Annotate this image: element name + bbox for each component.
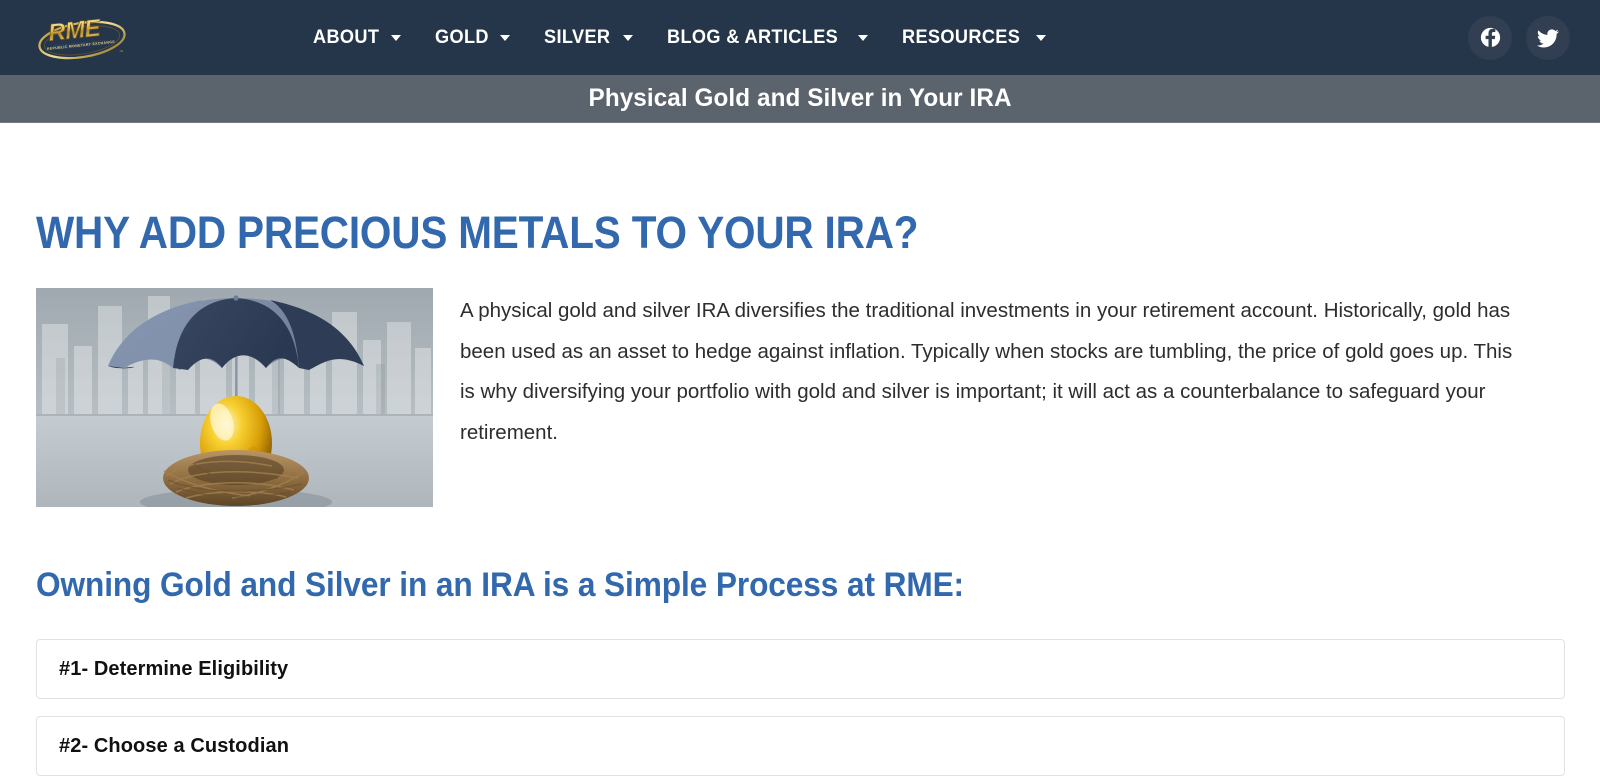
nav-item-gold[interactable]: GOLD: [418, 0, 527, 75]
site-header: RME REPUBLIC MONETARY EXCHANGE ™ ABOUT G…: [0, 0, 1600, 75]
facebook-icon: [1480, 27, 1501, 48]
nav-item-blog-articles-label: BLOG & ARTICLES: [667, 26, 838, 49]
page-title-bar: Physical Gold and Silver in Your IRA: [0, 75, 1600, 123]
facebook-link[interactable]: [1468, 16, 1512, 60]
rme-logo-mark: RME REPUBLIC MONETARY EXCHANGE ™: [33, 11, 131, 65]
nav-item-resources[interactable]: RESOURCES: [885, 0, 1063, 75]
nav-item-blog-articles[interactable]: BLOG & ARTICLES: [650, 0, 885, 75]
chevron-down-icon: [623, 35, 633, 41]
accordion-item-step-1[interactable]: #1- Determine Eligibility: [36, 639, 1565, 699]
nav-item-about-label: ABOUT: [313, 26, 379, 49]
svg-text:™: ™: [119, 49, 123, 54]
accordion-item-step-1-label: #1- Determine Eligibility: [59, 658, 288, 681]
section-heading: WHY ADD PRECIOUS METALS TO YOUR IRA?: [36, 209, 1411, 256]
main-navigation: ABOUT GOLD SILVER BLOG & ARTICLES RESOUR…: [296, 0, 1063, 75]
nav-item-silver[interactable]: SILVER: [527, 0, 649, 75]
page-title: Physical Gold and Silver in Your IRA: [588, 84, 1011, 113]
twitter-link[interactable]: [1526, 16, 1570, 60]
golden-egg-umbrella-illustration: [36, 288, 433, 507]
chevron-down-icon: [858, 35, 868, 41]
nav-item-resources-label: RESOURCES: [902, 26, 1020, 49]
accordion-item-step-2[interactable]: #2- Choose a Custodian: [36, 716, 1565, 776]
main-content: WHY ADD PRECIOUS METALS TO YOUR IRA?: [0, 209, 1600, 776]
nav-item-gold-label: GOLD: [435, 26, 489, 49]
intro-row: A physical gold and silver IRA diversifi…: [36, 288, 1564, 507]
process-accordion: #1- Determine Eligibility #2- Choose a C…: [36, 639, 1564, 776]
nav-item-about[interactable]: ABOUT: [296, 0, 418, 75]
rme-logo[interactable]: RME REPUBLIC MONETARY EXCHANGE ™: [33, 11, 131, 65]
chevron-down-icon: [391, 35, 401, 41]
golden-egg-umbrella-image: [36, 288, 433, 507]
accordion-item-step-2-label: #2- Choose a Custodian: [59, 735, 289, 758]
intro-paragraph: A physical gold and silver IRA diversifi…: [460, 288, 1528, 453]
process-subheading: Owning Gold and Silver in an IRA is a Si…: [36, 566, 1457, 605]
chevron-down-icon: [500, 35, 510, 41]
twitter-icon: [1537, 27, 1559, 49]
chevron-down-icon: [1036, 35, 1046, 41]
social-links: [1468, 0, 1570, 75]
nav-item-silver-label: SILVER: [544, 26, 610, 49]
